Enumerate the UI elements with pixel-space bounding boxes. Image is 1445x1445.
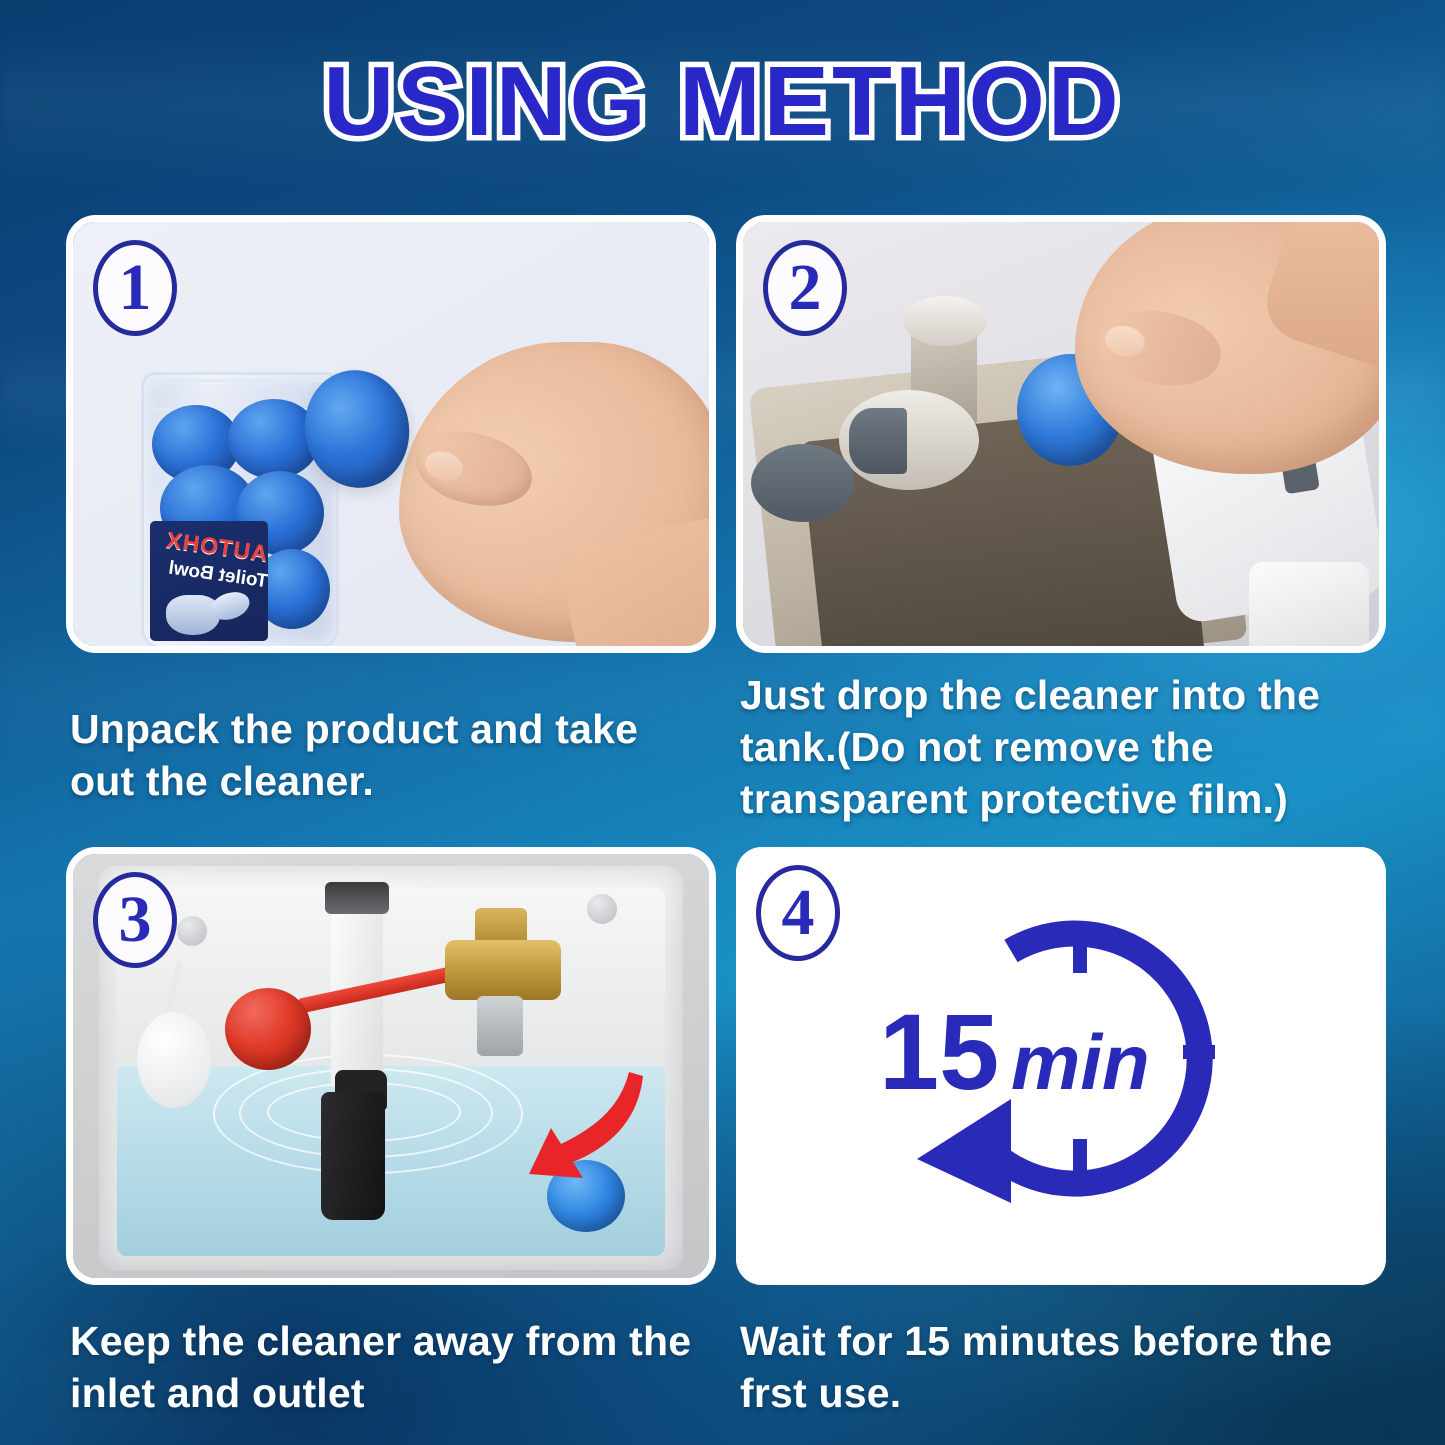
- step-3-badge: 3: [93, 872, 177, 968]
- valve-cap: [903, 296, 987, 346]
- brass-valve: [445, 940, 561, 1000]
- clock-icon-wrapper: 15 min: [736, 903, 1386, 1233]
- step-2-cell: 2 Just drop the cleaner into the tank.(D…: [736, 215, 1386, 825]
- outlet-valve: [321, 1092, 385, 1220]
- step-2-image-card: 2: [736, 215, 1386, 653]
- clock-value-text: 15: [879, 991, 999, 1112]
- clock-15min-icon: 15 min: [861, 903, 1261, 1233]
- hand: [1075, 215, 1386, 474]
- red-float-ball: [225, 988, 311, 1070]
- brass-valve-stem: [477, 996, 523, 1056]
- inlet-pipe-cap: [325, 882, 389, 914]
- product-label: AUTOHX Toilet Bowl: [150, 521, 268, 641]
- step-4-cell: 15 min 4 Wait for 15 minutes before the …: [736, 847, 1386, 1419]
- hand: [399, 342, 716, 642]
- step-4-image-card: 15 min 4: [736, 847, 1386, 1285]
- page-title: USING METHOD: [0, 52, 1445, 150]
- infographic-page: USING METHOD: [0, 0, 1445, 1445]
- step-2-caption: Just drop the cleaner into the tank.(Do …: [736, 669, 1386, 825]
- tank-screw: [587, 894, 617, 924]
- step-4-caption: Wait for 15 minutes before the frst use.: [736, 1315, 1386, 1419]
- step-1-cell: AUTOHX Toilet Bowl 1 Unpack th: [66, 215, 716, 825]
- forearm: [1257, 215, 1386, 389]
- step-3-image-card: 3: [66, 847, 716, 1285]
- red-arrow-icon: [521, 1070, 651, 1190]
- step-3-cell: 3 Keep the cleaner away from the inlet a…: [66, 847, 716, 1419]
- steps-grid: AUTOHX Toilet Bowl 1 Unpack th: [66, 215, 1386, 1419]
- flush-valve-secondary: [751, 444, 855, 522]
- step-2-badge: 2: [763, 240, 847, 336]
- tank-screw: [177, 916, 207, 946]
- step-3-caption: Keep the cleaner away from the inlet and…: [66, 1315, 716, 1419]
- step-4-badge: 4: [756, 865, 840, 961]
- step-1-badge: 1: [93, 240, 177, 336]
- white-float-ball: [137, 1012, 211, 1108]
- toilet-paper-roll: [1249, 562, 1369, 653]
- step-1-image-card: AUTOHX Toilet Bowl 1: [66, 215, 716, 653]
- clock-unit-text: min: [1011, 1018, 1150, 1106]
- step-1-caption: Unpack the product and take out the clea…: [66, 703, 716, 807]
- flush-valve: [839, 390, 979, 490]
- wrist: [556, 505, 716, 653]
